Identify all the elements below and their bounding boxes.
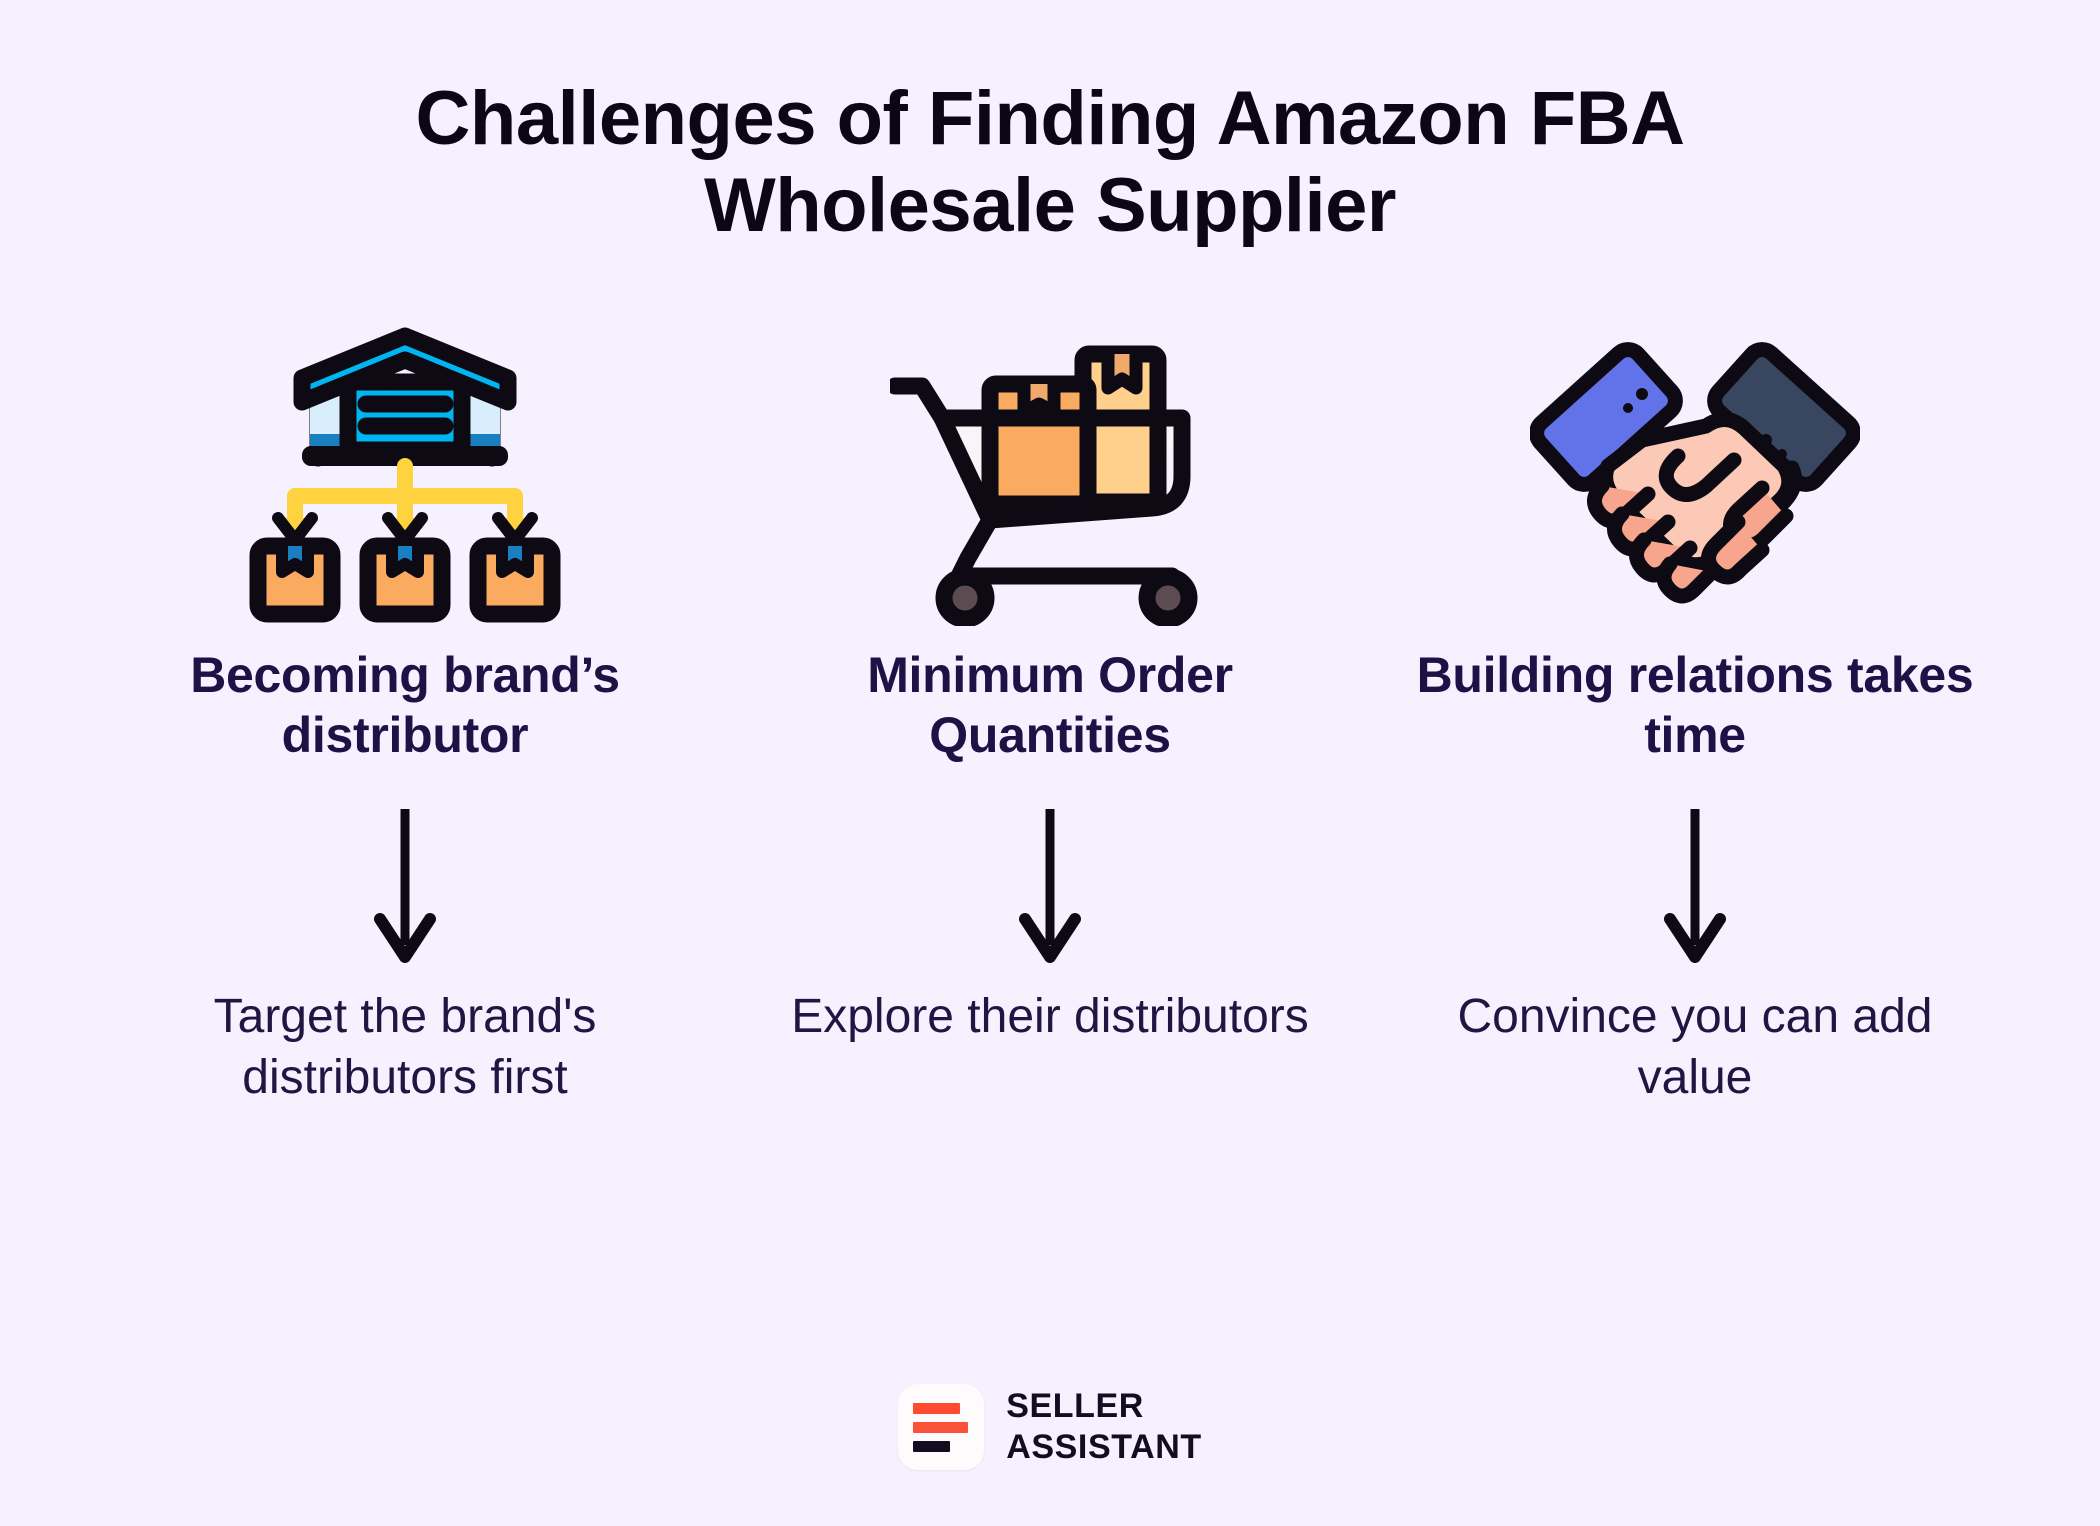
logo-wordmark-line-1: SELLER	[1006, 1386, 1202, 1427]
logo-bar-red-long	[913, 1403, 960, 1414]
down-arrow-icon	[1015, 805, 1085, 965]
page-title: Challenges of Finding Amazon FBA Wholesa…	[310, 76, 1790, 249]
down-arrow-icon	[1660, 805, 1730, 965]
column-body-text: Convince you can add value	[1395, 987, 1995, 1108]
down-arrow-icon	[370, 805, 440, 965]
footer: SELLER ASSISTANT	[0, 1384, 2100, 1470]
column-heading: Building relations takes time	[1395, 645, 1995, 765]
column-minimum-order-quantities: Minimum Order Quantities Explore their d…	[728, 321, 1373, 1047]
shopping-cart-boxes-icon	[890, 321, 1210, 631]
warehouse-distribution-icon	[240, 321, 570, 631]
column-becoming-brands-distributor: Becoming brand’s distributor Target the …	[83, 321, 728, 1108]
logo-mark-icon	[898, 1384, 984, 1470]
logo-wordmark: SELLER ASSISTANT	[1006, 1386, 1202, 1469]
seller-assistant-logo: SELLER ASSISTANT	[898, 1384, 1202, 1470]
logo-wordmark-line-2: ASSISTANT	[1006, 1427, 1202, 1468]
column-building-relations-takes-time: Building relations takes time Convince y…	[1373, 321, 2018, 1108]
logo-bar-dark-short	[913, 1441, 950, 1452]
column-body-text: Target the brand's distributors first	[105, 987, 705, 1108]
column-heading: Becoming brand’s distributor	[105, 645, 705, 765]
column-body-text: Explore their distributors	[791, 987, 1309, 1047]
logo-bar-red-longer	[913, 1422, 968, 1433]
handshake-icon	[1530, 321, 1860, 631]
infographic-root: Challenges of Finding Amazon FBA Wholesa…	[0, 0, 2100, 1526]
columns-container: Becoming brand’s distributor Target the …	[0, 321, 2100, 1108]
column-heading: Minimum Order Quantities	[750, 645, 1350, 765]
